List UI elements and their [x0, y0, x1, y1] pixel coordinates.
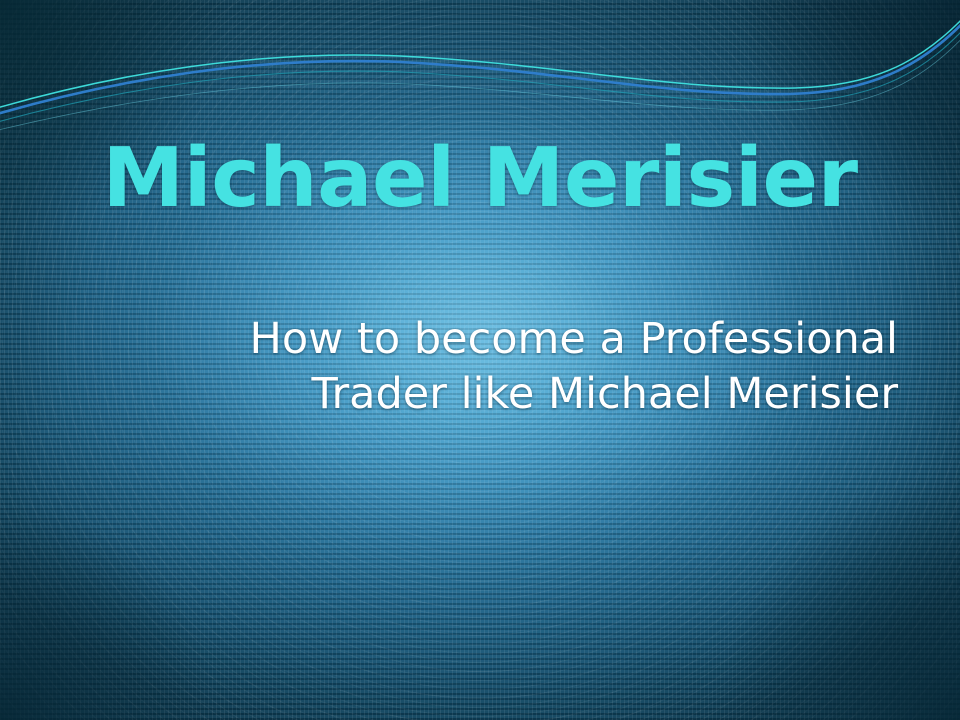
slide-title: Michael Merisier	[0, 138, 960, 220]
slide-subtitle: How to become a Professional Trader like…	[120, 312, 898, 422]
slide-text-layer: Michael Merisier How to become a Profess…	[0, 0, 960, 720]
presentation-title-slide: Michael Merisier How to become a Profess…	[0, 0, 960, 720]
